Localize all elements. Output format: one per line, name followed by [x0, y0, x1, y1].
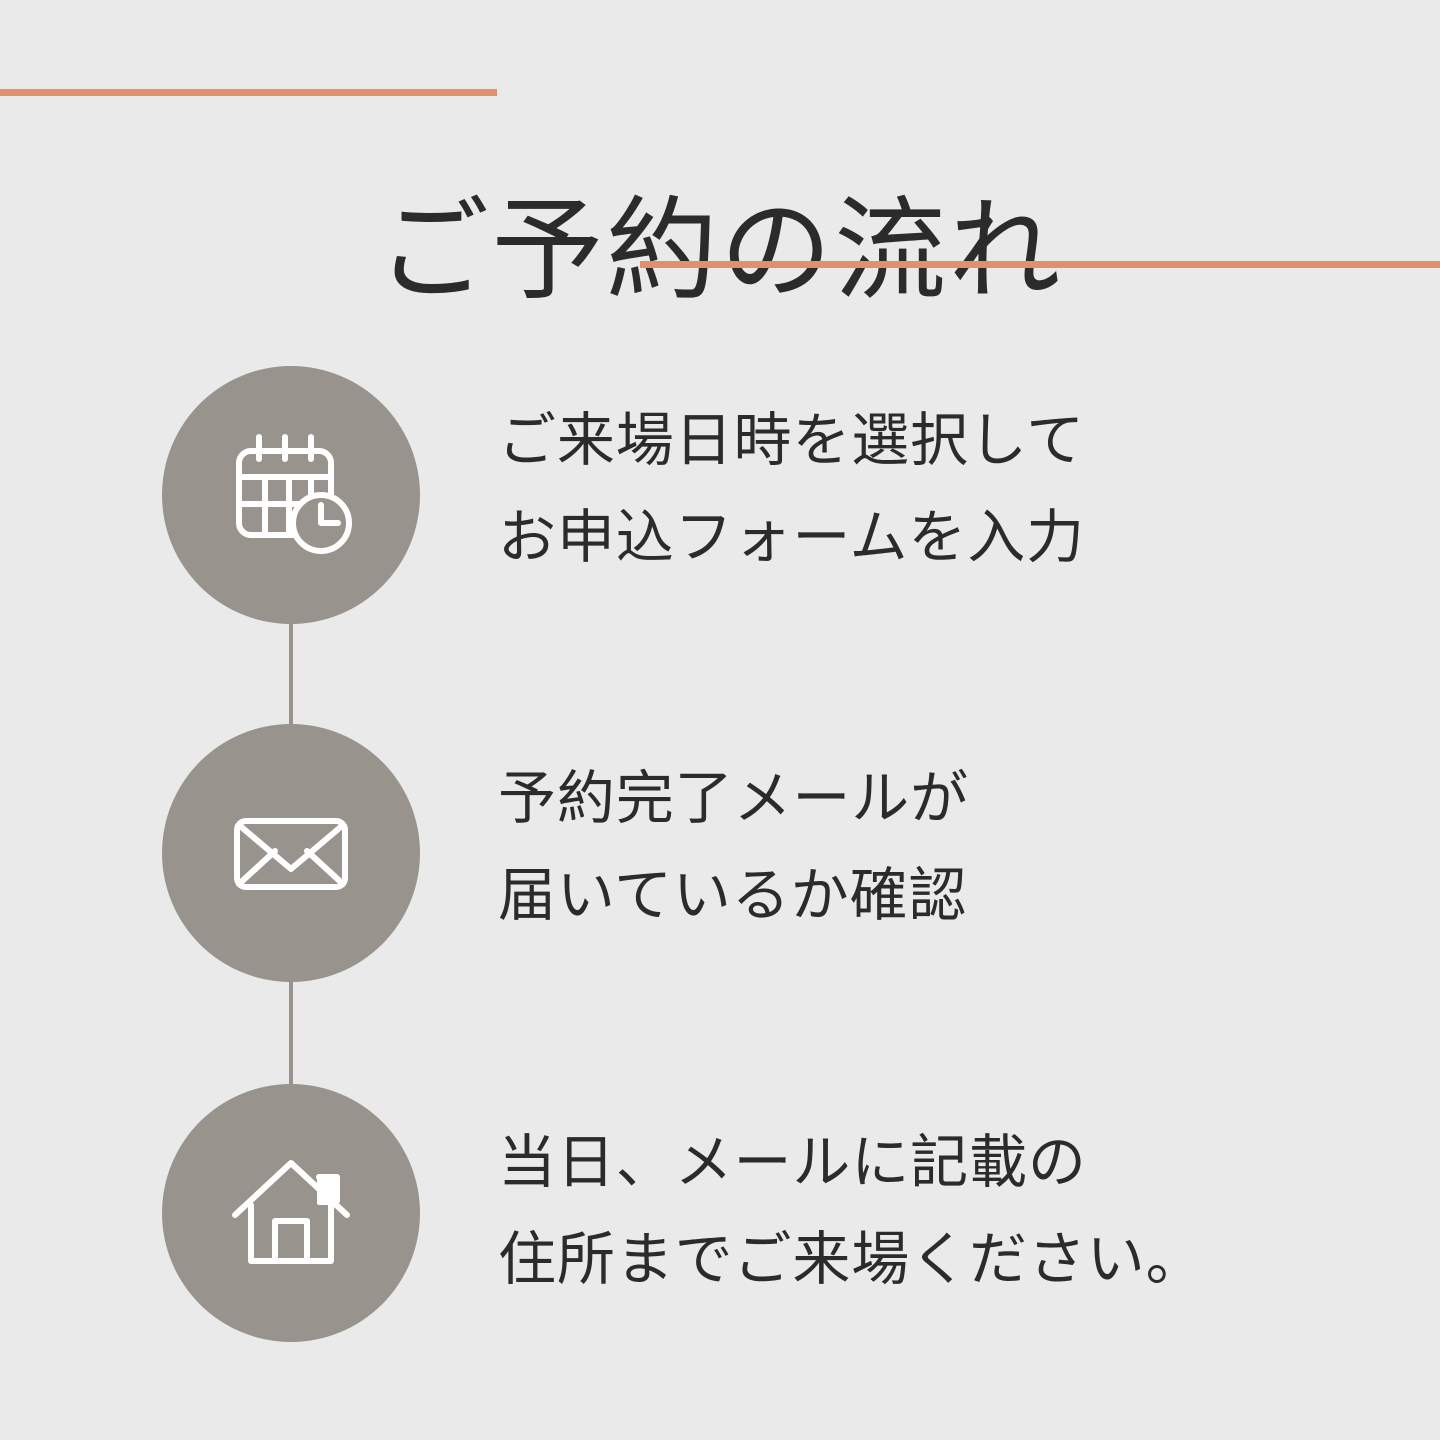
step-1-line-1: ご来場日時を選択して — [498, 392, 1398, 489]
step-2-text: 予約完了メールが 届いているか確認 — [498, 750, 1398, 944]
title-rule-top — [0, 89, 497, 96]
step-item: 当日、メールに記載の 住所までご来場ください。 — [0, 1084, 1440, 1342]
step-3-line-2: 住所までご来場ください。 — [498, 1211, 1398, 1308]
step-3-badge — [162, 1084, 420, 1342]
envelope-icon — [227, 789, 355, 917]
house-icon — [227, 1149, 355, 1277]
step-3-text: 当日、メールに記載の 住所までご来場ください。 — [498, 1114, 1398, 1308]
step-2-line-2: 届いているか確認 — [498, 847, 1398, 944]
step-3-line-1: 当日、メールに記載の — [498, 1114, 1398, 1211]
step-item: ご来場日時を選択して お申込フォームを入力 — [0, 366, 1440, 624]
calendar-clock-icon — [225, 429, 357, 561]
page-title: ご予約の流れ — [0, 187, 1440, 317]
step-item: 予約完了メールが 届いているか確認 — [0, 724, 1440, 982]
step-2-line-1: 予約完了メールが — [498, 750, 1398, 847]
step-2-badge — [162, 724, 420, 982]
step-1-badge — [162, 366, 420, 624]
step-1-text: ご来場日時を選択して お申込フォームを入力 — [498, 392, 1398, 586]
steps-list: ご来場日時を選択して お申込フォームを入力 予約完了メールが 届いているか確認 — [0, 366, 1440, 1346]
title-rule-bottom — [640, 261, 1440, 268]
step-1-line-2: お申込フォームを入力 — [498, 489, 1398, 586]
reservation-flow-page: ご予約の流れ — [0, 0, 1440, 1440]
